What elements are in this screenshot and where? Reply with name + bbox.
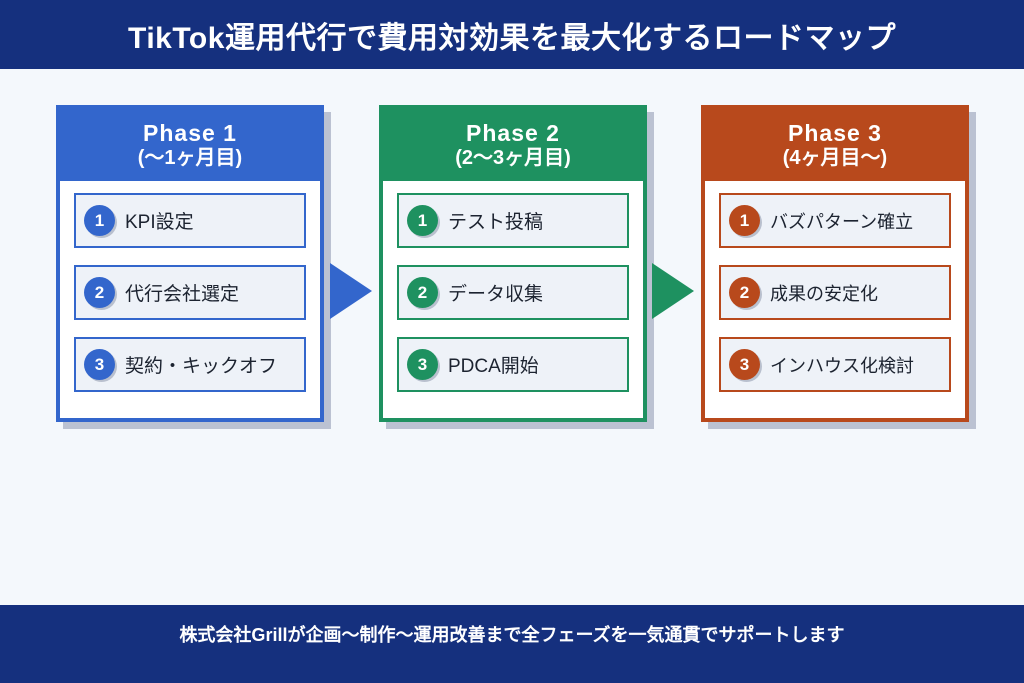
step-label: インハウス化検討	[770, 352, 914, 378]
step-number-badge: 3	[729, 349, 760, 380]
phase-card-1-header: Phase 1 (〜1ヶ月目)	[60, 109, 320, 181]
header-bar: TikTok運用代行で費用対効果を最大化するロードマップ	[0, 0, 1024, 69]
step-number-badge: 1	[729, 205, 760, 236]
list-item[interactable]: 1 KPI設定	[74, 193, 306, 248]
phase-card-1: Phase 1 (〜1ヶ月目) 1 KPI設定 2 代行会社選定 3 契約・キッ…	[56, 105, 324, 422]
step-label: KPI設定	[125, 207, 194, 234]
list-item[interactable]: 3 PDCA開始	[397, 337, 629, 392]
phase-card-1-name: Phase 1	[143, 120, 237, 147]
arrow-phase2-to-phase3-icon	[652, 263, 694, 319]
list-item[interactable]: 3 契約・キックオフ	[74, 337, 306, 392]
step-label: テスト投稿	[448, 207, 543, 234]
step-label: 成果の安定化	[770, 280, 878, 306]
page-title: TikTok運用代行で費用対効果を最大化するロードマップ	[128, 13, 896, 57]
phase-card-1-body: 1 KPI設定 2 代行会社選定 3 契約・キックオフ	[60, 181, 320, 418]
step-label: 代行会社選定	[125, 279, 239, 306]
step-label: PDCA開始	[448, 351, 539, 378]
phase-card-2-body: 1 テスト投稿 2 データ収集 3 PDCA開始	[383, 181, 643, 418]
step-label: データ収集	[448, 279, 543, 306]
step-label: 契約・キックオフ	[125, 351, 277, 378]
phase-card-2-period: (2〜3ヶ月目)	[455, 147, 571, 171]
step-number-badge: 2	[84, 277, 115, 308]
phase-card-1-period: (〜1ヶ月目)	[138, 147, 242, 171]
roadmap-stage: Phase 1 (〜1ヶ月目) 1 KPI設定 2 代行会社選定 3 契約・キッ…	[0, 69, 1024, 605]
list-item[interactable]: 1 バズパターン確立	[719, 193, 951, 248]
phase-card-2-name: Phase 2	[466, 120, 560, 147]
step-number-badge: 2	[407, 277, 438, 308]
list-item[interactable]: 2 データ収集	[397, 265, 629, 320]
step-number-badge: 2	[729, 277, 760, 308]
phase-card-3-period: (4ヶ月目〜)	[783, 147, 887, 171]
footer-text: 株式会社Grillが企画〜制作〜運用改善まで全フェーズを一気通貫でサポートします	[179, 621, 844, 647]
step-number-badge: 1	[84, 205, 115, 236]
list-item[interactable]: 2 成果の安定化	[719, 265, 951, 320]
phase-card-2-header: Phase 2 (2〜3ヶ月目)	[383, 109, 643, 181]
step-number-badge: 3	[407, 349, 438, 380]
phase-card-2: Phase 2 (2〜3ヶ月目) 1 テスト投稿 2 データ収集 3 PDCA開…	[379, 105, 647, 422]
step-number-badge: 1	[407, 205, 438, 236]
phase-card-3-body: 1 バズパターン確立 2 成果の安定化 3 インハウス化検討	[705, 181, 965, 418]
list-item[interactable]: 1 テスト投稿	[397, 193, 629, 248]
phase-card-3-name: Phase 3	[788, 120, 882, 147]
step-label: バズパターン確立	[770, 208, 913, 234]
phase-card-3: Phase 3 (4ヶ月目〜) 1 バズパターン確立 2 成果の安定化 3 イン…	[701, 105, 969, 422]
list-item[interactable]: 2 代行会社選定	[74, 265, 306, 320]
footer-bar: 株式会社Grillが企画〜制作〜運用改善まで全フェーズを一気通貫でサポートします	[0, 605, 1024, 683]
arrow-phase1-to-phase2-icon	[330, 263, 372, 319]
phase-card-3-header: Phase 3 (4ヶ月目〜)	[705, 109, 965, 181]
list-item[interactable]: 3 インハウス化検討	[719, 337, 951, 392]
step-number-badge: 3	[84, 349, 115, 380]
